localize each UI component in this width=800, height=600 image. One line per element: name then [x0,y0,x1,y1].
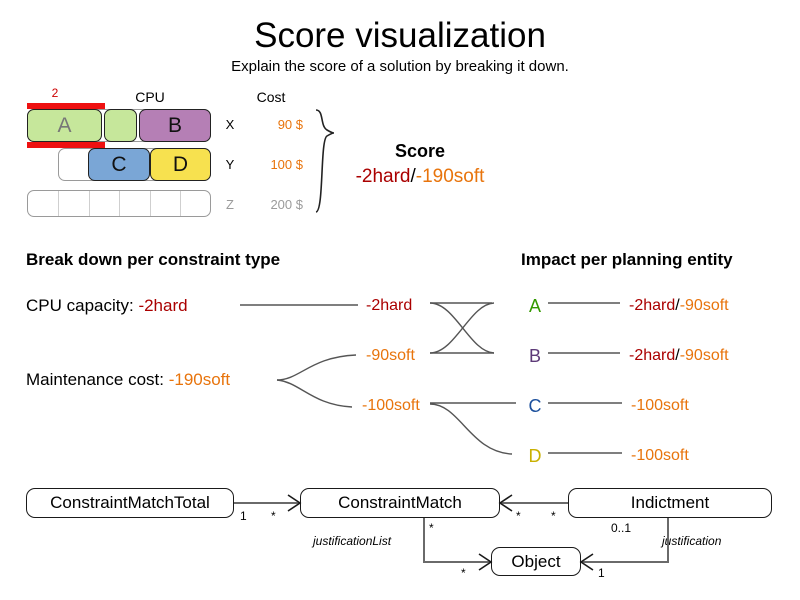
cost-column-header: Cost [242,89,300,105]
grid-divider [89,191,90,216]
uml-box-indictment[interactable]: Indictment [568,488,772,518]
process-label-b: B [168,115,182,136]
entity-score-soft: -100soft [631,447,689,464]
heading-breakdown-per-constraint-type: Break down per constraint type [26,250,280,270]
uml-mult-indictment-to-cm-left: * [516,509,521,523]
uml-mult-indictment-to-object: 0..1 [611,521,631,535]
uml-box-label: ConstraintMatch [338,493,462,513]
match-score-soft-90: -90soft [366,347,415,365]
process-block-d[interactable]: D [150,148,211,181]
grid-divider [180,191,181,216]
constraint-maintenance-cost[interactable]: Maintenance cost: -190soft [26,370,230,390]
uml-mult-cmt-target: * [271,509,276,523]
uml-box-constraintmatch[interactable]: ConstraintMatch [300,488,500,518]
entity-score-soft: -90soft [680,347,729,364]
uml-box-object[interactable]: Object [491,547,581,576]
process-label-d: D [173,154,188,175]
page-subtitle: Explain the score of a solution by break… [0,58,800,76]
process-block-b[interactable]: B [139,109,211,142]
machine-name-y: Y [222,157,238,172]
grid-divider [119,191,120,216]
uml-role-justification: justification [662,534,721,548]
uml-box-label: Object [511,552,560,572]
match-score-soft-100: -100soft [362,397,420,415]
entity-score-hard: -2hard [629,347,675,364]
grid-divider [58,191,59,216]
uml-box-label: Indictment [631,493,709,513]
entity-letter-d: D [524,446,546,467]
entity-score-b: -2hard/-90soft [629,347,729,365]
entity-score-a: -2hard/-90soft [629,297,729,315]
process-block-a[interactable]: A [27,109,102,142]
constraint-name: Maintenance cost: [26,370,164,389]
uml-mult-cmt-source: 1 [240,509,247,523]
machine-name-x: X [222,117,238,132]
score-soft: -190soft [416,166,485,187]
uml-box-label: ConstraintMatchTotal [50,493,210,513]
uml-box-constraintmatchtotal[interactable]: ConstraintMatchTotal [26,488,234,518]
process-label-a: A [57,115,71,136]
score-value: -2hard/-190soft [310,166,530,188]
score-title: Score [330,141,510,162]
entity-score-hard: -2hard [629,297,675,314]
heading-impact-per-planning-entity: Impact per planning entity [521,250,733,270]
entity-score-d: -100soft [631,447,689,465]
entity-letter-a: A [524,296,546,317]
entity-score-soft: -90soft [680,297,729,314]
constraint-name: CPU capacity: [26,296,134,315]
entity-letter-c: C [524,396,546,417]
uml-mult-cm-to-object: * [429,521,434,535]
process-label-c: C [111,154,126,175]
constraint-score: -2hard [138,296,187,315]
uml-mult-indictment-to-cm-right: * [551,509,556,523]
grid-divider [150,191,151,216]
machine-cost-y: 100 $ [243,157,303,172]
entity-score-c: -100soft [631,397,689,415]
uml-mult-object-from-cm: * [461,566,466,580]
entity-score-soft: -100soft [631,397,689,414]
page-title: Score visualization [0,16,800,56]
machine-cost-x: 90 $ [243,117,303,132]
score-hard: -2hard [356,166,411,187]
cpu-column-header: CPU [118,89,182,105]
machine-track-z [27,190,211,217]
uml-role-justification-list: justificationList [313,534,391,548]
overload-badge: 2 [40,86,70,100]
constraint-cpu-capacity[interactable]: CPU capacity: -2hard [26,296,188,316]
machine-name-z: Z [222,197,238,212]
match-score-hard: -2hard [366,297,412,315]
constraint-score: -190soft [169,370,230,389]
machine-cost-z: 200 $ [243,197,303,212]
process-block-a-overflow[interactable] [104,109,137,142]
uml-mult-object-from-indictment: 1 [598,566,605,580]
process-block-c[interactable]: C [88,148,150,181]
entity-letter-b: B [524,346,546,367]
